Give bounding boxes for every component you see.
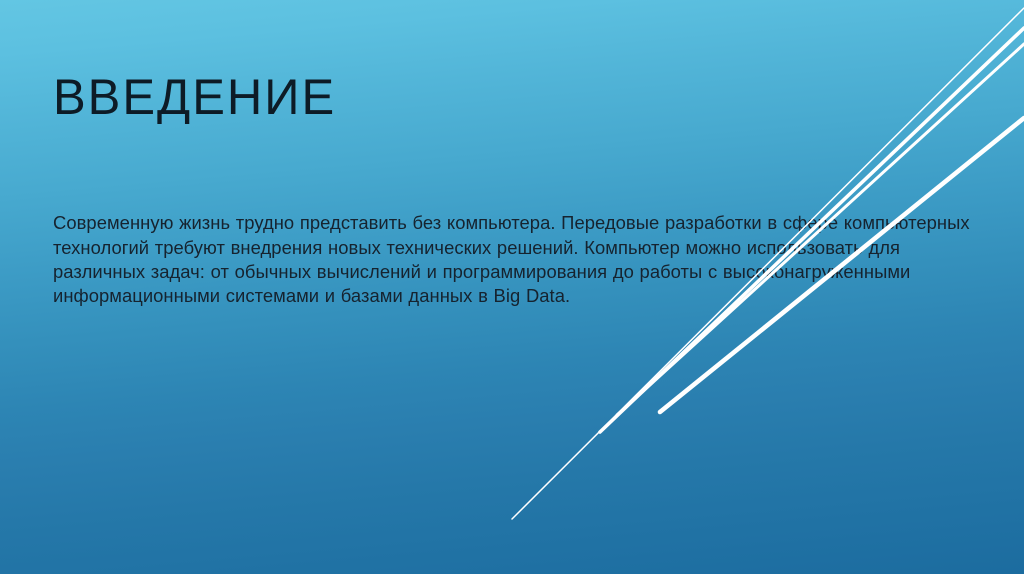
slide-body-text: Современную жизнь трудно представить без…	[53, 211, 993, 308]
page-title: ВВЕДЕНИЕ	[53, 70, 336, 125]
presentation-slide: ВВЕДЕНИЕ Современную жизнь трудно предст…	[0, 0, 1024, 574]
